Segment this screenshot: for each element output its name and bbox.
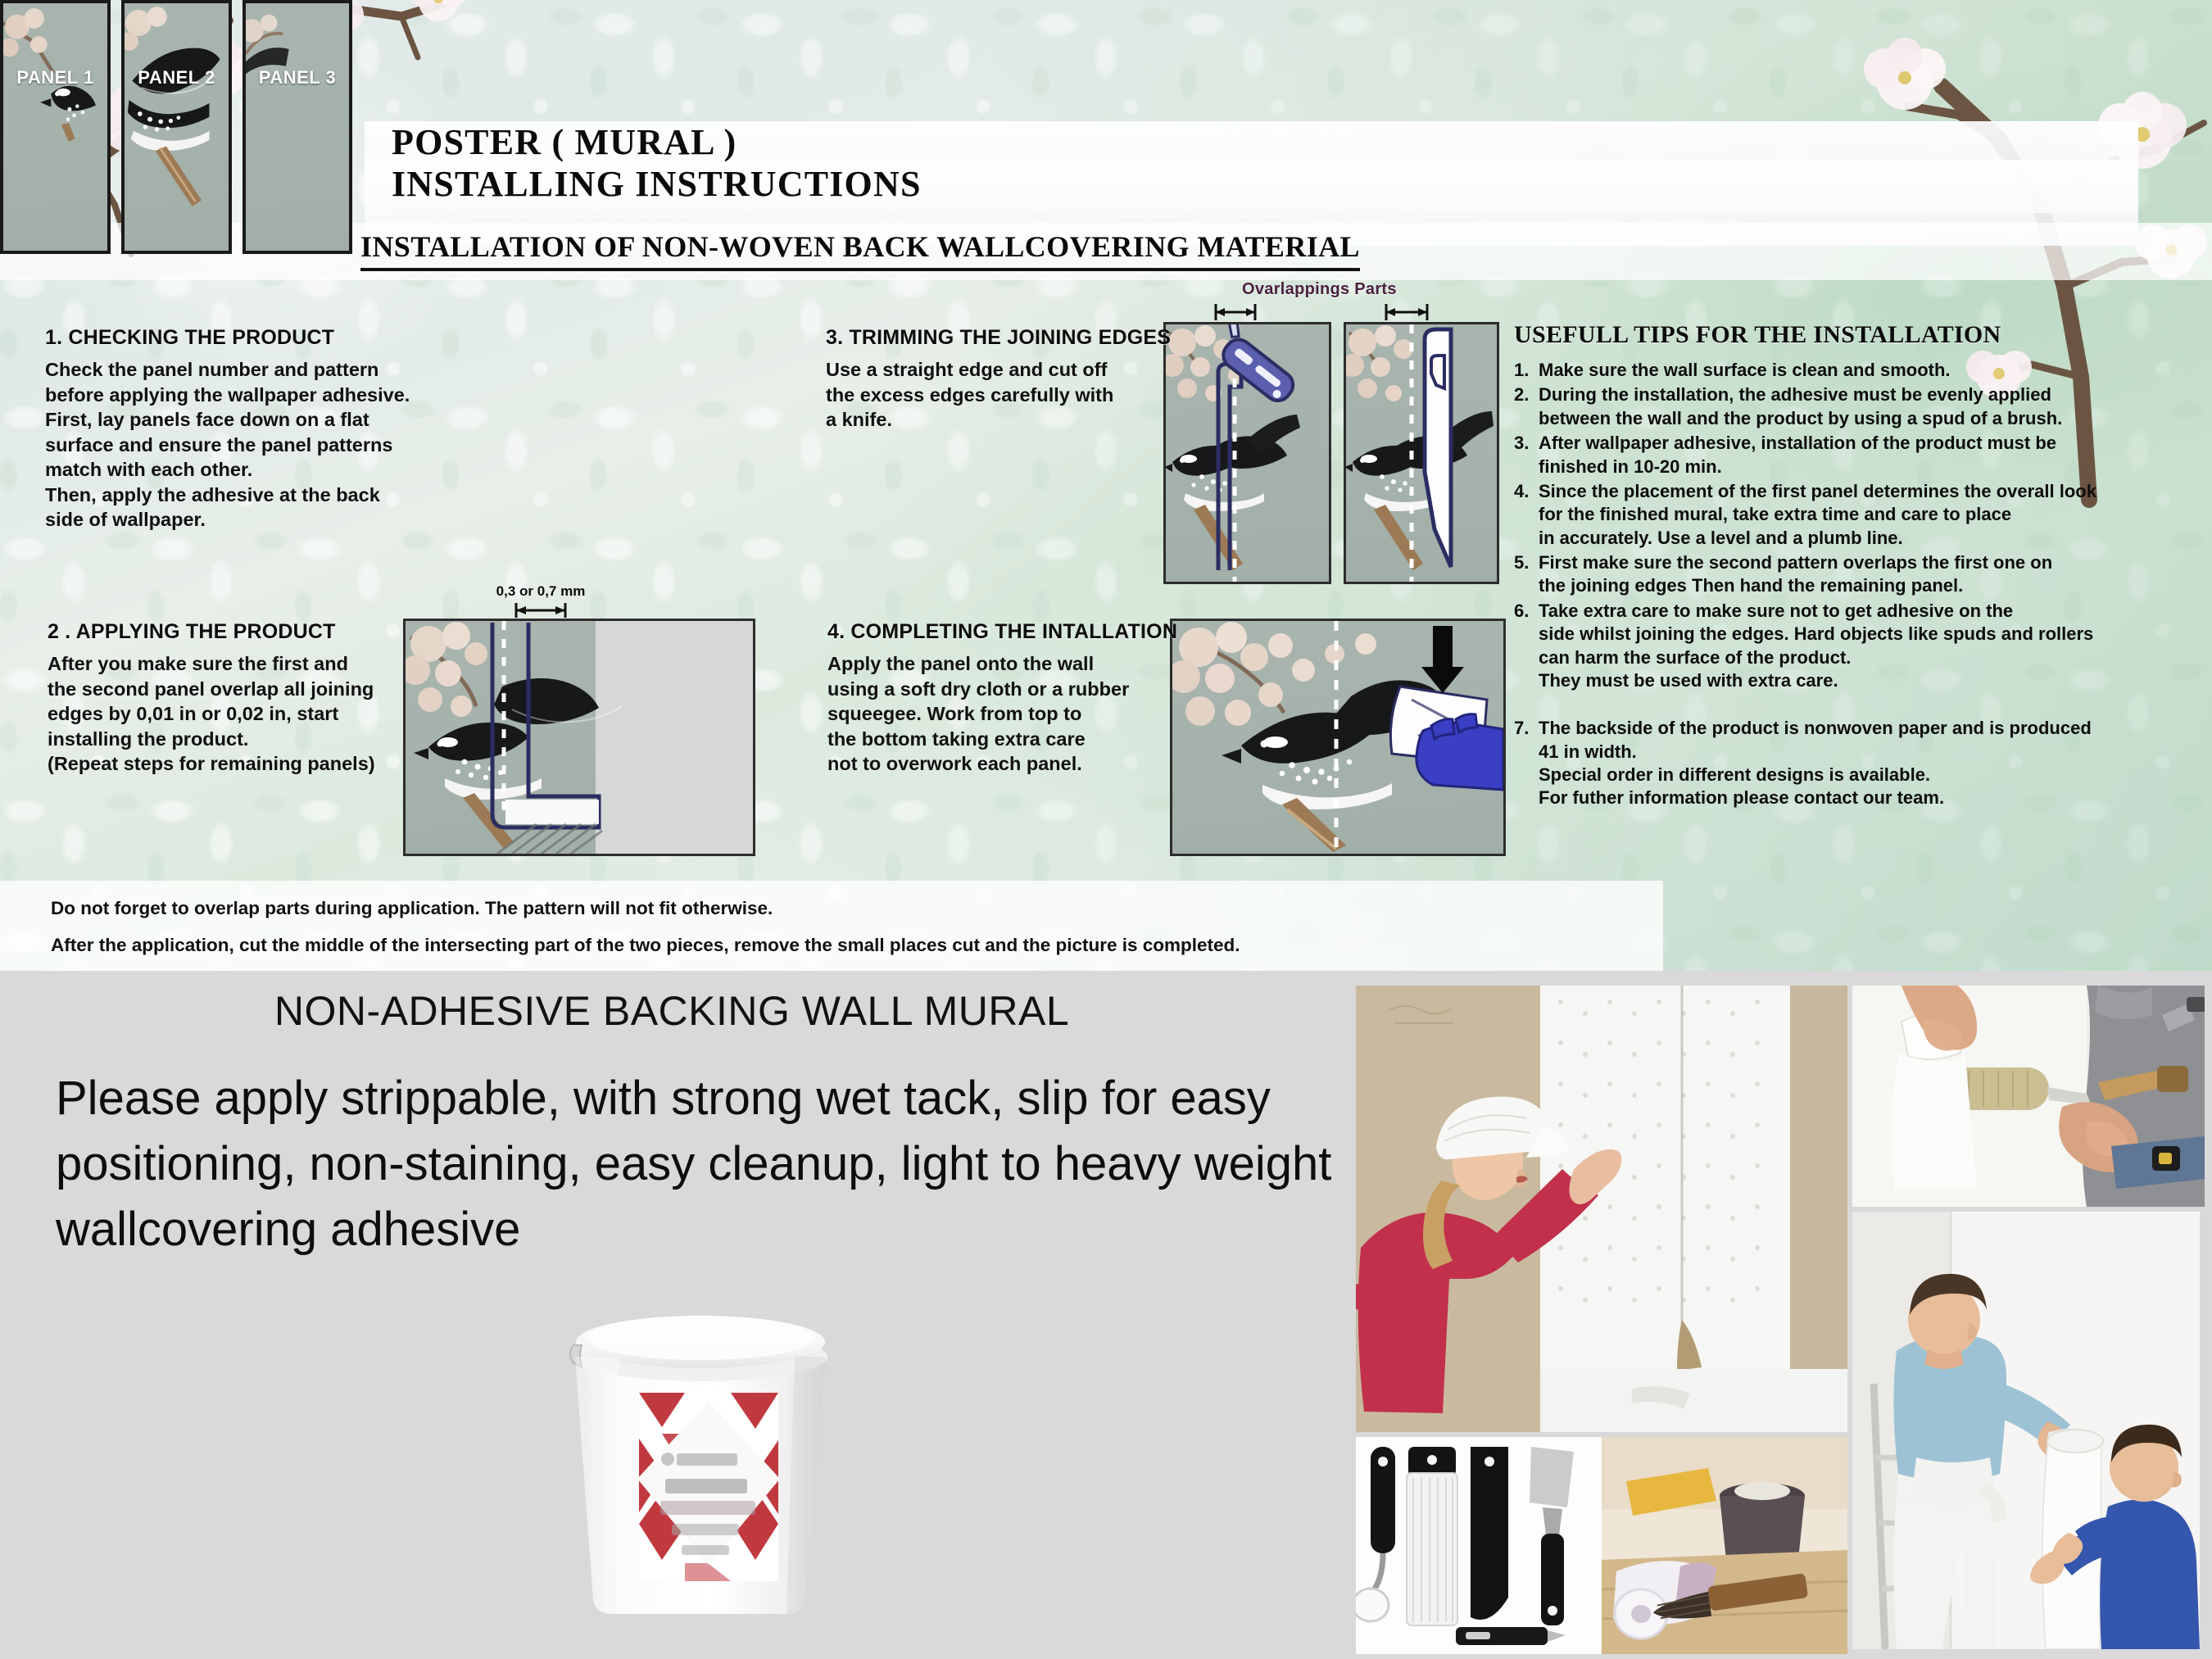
tip-line: Special order in different designs is av… <box>1539 764 2092 786</box>
diagram-three-panels: PANEL 1 <box>0 0 352 254</box>
tip-text: First make sure the second pattern overl… <box>1539 551 2052 598</box>
dimension-arrow-icon <box>455 600 627 621</box>
step-3-line-2: the excess edges carefully with <box>826 383 1154 408</box>
squeegee-artwork <box>1172 621 1503 854</box>
photo-tool-set <box>1356 1437 1847 1654</box>
diagram-overlapping-edge <box>403 619 755 856</box>
mural-panel-3: PANEL 3 <box>243 0 352 254</box>
step-2-body: After you make sure the first and the se… <box>48 651 433 777</box>
tip-number: 7. <box>1514 717 1539 810</box>
photo-applying-paste-with-roller <box>1852 986 2205 1207</box>
product-paragraph-line-3: wallcovering adhesive <box>56 1197 1344 1262</box>
photo-two-people-hanging-wallpaper <box>1852 1212 2200 1649</box>
tip-line: finished in 10-20 min. <box>1539 456 2056 478</box>
poster-title-line-1: POSTER ( MURAL ) <box>392 121 922 163</box>
step-4-line-2: using a soft dry cloth or a rubber <box>827 677 1155 702</box>
tip-line: for the finished mural, take extra time … <box>1539 503 2096 526</box>
photo-tools-artwork <box>1356 1437 1847 1654</box>
product-paragraph-line-1: Please apply strippable, with strong wet… <box>56 1066 1344 1131</box>
tip-text: Make sure the wall surface is clean and … <box>1539 359 1951 382</box>
product-description-text: NON-ADHESIVE BACKING WALL MURAL Please a… <box>0 987 1344 1262</box>
step-4-body: Apply the panel onto the wall using a so… <box>827 651 1155 777</box>
footnote-1: Do not forget to overlap parts during ap… <box>51 899 1240 919</box>
step-1-line-1: Check the panel number and pattern <box>45 357 430 383</box>
panel-1-label: PANEL 1 <box>3 67 107 88</box>
step-4-line-5: not to overwork each panel. <box>827 751 1155 777</box>
tip-item: 3. After wallpaper adhesive, installatio… <box>1514 432 2178 478</box>
useful-tips-title: USEFULL TIPS FOR THE INSTALLATION <box>1514 321 2178 349</box>
photo-woman-hanging-wallpaper <box>1356 986 1847 1432</box>
tip-item: 5. First make sure the second pattern ov… <box>1514 551 2178 598</box>
tip-line: the joining edges Then hand the remainin… <box>1539 574 2052 597</box>
tip-line: During the installation, the adhesive mu… <box>1539 383 2062 406</box>
step-4-title: 4. COMPLETING THE INTALLATION <box>827 620 1155 644</box>
mural-panel-2: PANEL 2 <box>121 0 232 254</box>
tip-number: 4. <box>1514 480 1539 550</box>
footnotes-block: Do not forget to overlap parts during ap… <box>51 899 1240 956</box>
panel-2-label: PANEL 2 <box>125 67 229 88</box>
step-2-applying-the-product: 2 . APPLYING THE PRODUCT After you make … <box>48 620 433 777</box>
product-paragraph-line-2: positioning, non-staining, easy cleanup,… <box>56 1131 1344 1197</box>
step-4-line-4: the bottom taking extra care <box>827 727 1155 752</box>
tip-item: 4. Since the placement of the first pane… <box>1514 480 2178 550</box>
step-1-title: 1. CHECKING THE PRODUCT <box>45 326 430 350</box>
step-1-line-3: First, lay panels face down on a flat <box>45 407 430 433</box>
diagram-straight-edge <box>1344 322 1499 584</box>
step-3-trimming-the-joining-edges: 3. TRIMMING THE JOINING EDGES Use a stra… <box>826 326 1154 433</box>
step-1-checking-the-product: 1. CHECKING THE PRODUCT Check the panel … <box>45 326 430 533</box>
poster-title-line-2: INSTALLING INSTRUCTIONS <box>392 163 922 205</box>
tip-line: For futher information please contact ou… <box>1539 786 2092 809</box>
tip-line: After wallpaper adhesive, installation o… <box>1539 432 2056 455</box>
step-1-line-5: match with each other. <box>45 457 430 483</box>
tip-text: Since the placement of the first panel d… <box>1539 480 2096 550</box>
tip-number: 1. <box>1514 359 1539 382</box>
knife-trim-artwork <box>1166 324 1329 582</box>
step-4-line-3: squeegee. Work from top to <box>827 701 1155 727</box>
tip-number: 2. <box>1514 383 1539 430</box>
tip-line: Take extra care to make sure not to get … <box>1539 600 2093 623</box>
step-3-body: Use a straight edge and cut off the exce… <box>826 357 1154 433</box>
tip-line: 41 in width. <box>1539 741 2092 764</box>
tip-line: Since the placement of the first panel d… <box>1539 480 2096 503</box>
product-heading: NON-ADHESIVE BACKING WALL MURAL <box>0 987 1344 1035</box>
step-2-line-1: After you make sure the first and <box>48 651 433 677</box>
tip-line: between the wall and the product by usin… <box>1539 407 2062 430</box>
step-2-line-4: installing the product. <box>48 727 433 752</box>
tip-line: side whilst joining the edges. Hard obje… <box>1539 623 2093 646</box>
tip-item: 2. During the installation, the adhesive… <box>1514 383 2178 430</box>
panel-gap-dimension-label: 0,3 or 0,7 mm <box>455 583 627 600</box>
overlapping-parts-label: Ovarlappings Parts <box>1242 280 1397 299</box>
tip-number: 3. <box>1514 432 1539 478</box>
tip-text: After wallpaper adhesive, installation o… <box>1539 432 2056 478</box>
poster-subtitle: INSTALLATION OF NON-WOVEN BACK WALLCOVER… <box>360 229 1360 271</box>
tip-line: can harm the surface of the product. <box>1539 646 2093 669</box>
installation-photo-grid <box>1356 986 2200 1649</box>
step-1-line-2: before applying the wallpaper adhesive. <box>45 383 430 408</box>
useful-tips-section: USEFULL TIPS FOR THE INSTALLATION 1. Mak… <box>1514 321 2178 812</box>
step-1-body: Check the panel number and pattern befor… <box>45 357 430 533</box>
straight-edge-artwork <box>1346 324 1497 582</box>
panel-3-artwork <box>246 3 349 251</box>
step-1-line-7: side of wallpaper. <box>45 507 430 533</box>
tip-number: 5. <box>1514 551 1539 598</box>
step-3-title: 3. TRIMMING THE JOINING EDGES <box>826 326 1154 350</box>
mural-panel-1: PANEL 1 <box>0 0 111 254</box>
step-1-line-4: surface and ensure the panel patterns <box>45 433 430 458</box>
tip-item: 1. Make sure the wall surface is clean a… <box>1514 359 2178 382</box>
overlap-diagram-artwork <box>406 621 753 854</box>
footnote-2: After the application, cut the middle of… <box>51 936 1240 956</box>
tip-line: The backside of the product is nonwoven … <box>1539 717 2092 740</box>
tip-text: Take extra care to make sure not to get … <box>1539 600 2093 693</box>
step-2-line-5: (Repeat steps for remaining panels) <box>48 751 433 777</box>
tip-line: First make sure the second pattern overl… <box>1539 551 2052 574</box>
panel-gap-dimension: 0,3 or 0,7 mm <box>455 583 627 625</box>
panel-2-artwork <box>125 3 229 251</box>
step-4-completing-the-installation: 4. COMPLETING THE INTALLATION Apply the … <box>827 620 1155 777</box>
step-2-line-3: edges by 0,01 in or 0,02 in, start <box>48 701 433 727</box>
photo-woman-artwork <box>1356 986 1847 1432</box>
instruction-poster-top: POSTER ( MURAL ) INSTALLING INSTRUCTIONS… <box>0 0 2212 971</box>
step-3-line-1: Use a straight edge and cut off <box>826 357 1154 383</box>
panel-1-artwork <box>3 3 107 251</box>
adhesive-bucket-image <box>541 1278 860 1622</box>
tip-item: 6. Take extra care to make sure not to g… <box>1514 600 2178 693</box>
tip-line: in accurately. Use a level and a plumb l… <box>1539 527 2096 550</box>
photo-roller-artwork <box>1852 986 2205 1207</box>
photo-team-artwork <box>1852 1212 2200 1649</box>
poster-title-block: POSTER ( MURAL ) INSTALLING INSTRUCTIONS <box>392 121 922 205</box>
step-3-line-3: a knife. <box>826 407 1154 433</box>
tip-line: They must be used with extra care. <box>1539 669 2093 692</box>
tip-line: Make sure the wall surface is clean and … <box>1539 359 1951 382</box>
tip-number: 6. <box>1514 600 1539 693</box>
diagram-completing-installation <box>1170 619 1506 856</box>
overlap-dimension-arrows-icon <box>1204 301 1507 323</box>
step-1-line-6: Then, apply the adhesive at the back <box>45 483 430 508</box>
tip-item: 7. The backside of the product is nonwov… <box>1514 717 2178 810</box>
tip-text: During the installation, the adhesive mu… <box>1539 383 2062 430</box>
step-2-line-2: the second panel overlap all joining <box>48 677 433 702</box>
diagram-trimming-with-knife <box>1163 322 1331 584</box>
product-paragraph: Please apply strippable, with strong wet… <box>0 1066 1344 1262</box>
tip-text: The backside of the product is nonwoven … <box>1539 717 2092 810</box>
step-4-line-1: Apply the panel onto the wall <box>827 651 1155 677</box>
panel-3-label: PANEL 3 <box>246 67 349 88</box>
step-2-title: 2 . APPLYING THE PRODUCT <box>48 620 433 644</box>
